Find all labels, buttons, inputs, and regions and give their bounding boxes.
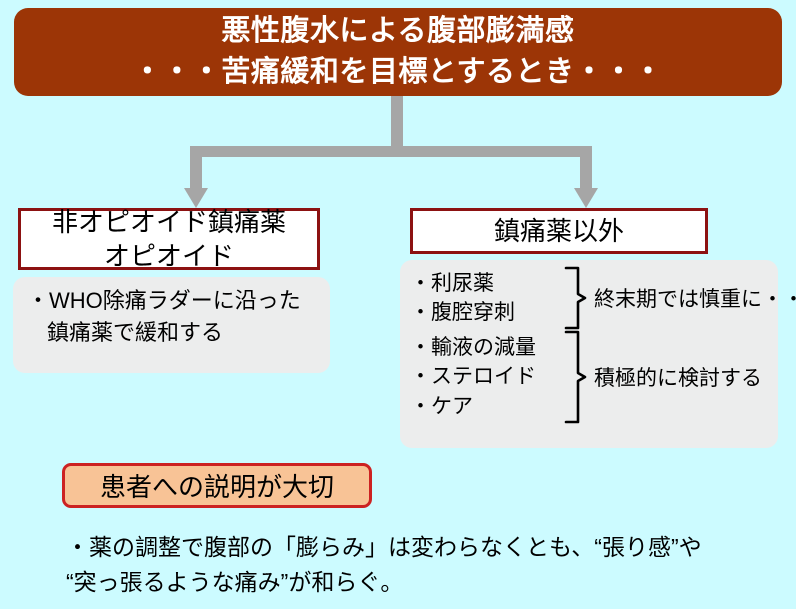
- header-line-1: 悪性腹水による腹部膨満感: [221, 11, 574, 52]
- branch-right-group-1: ・利尿薬 ・腹腔穿刺 終末期では慎重に・・・: [410, 266, 778, 330]
- branch-right-title-box: 鎮痛薬以外: [410, 208, 708, 254]
- branch-right-group-2-label: 積極的に検討する: [588, 362, 762, 392]
- branch-right-group-2: ・輸液の減量 ・ステロイド ・ケア 積極的に検討する: [410, 330, 778, 424]
- list-item: ・輸液の減量: [410, 333, 562, 362]
- highlight-callout-label: 患者への説明が大切: [100, 467, 334, 504]
- header-box: 悪性腹水による腹部膨満感 ・・・苦痛緩和を目標とするとき・・・: [14, 8, 782, 96]
- branch-left-title-box: 非オピオイド鎮痛薬 オピオイド: [18, 208, 320, 270]
- branch-right-detail-panel: ・利尿薬 ・腹腔穿刺 終末期では慎重に・・・ ・輸液の減量 ・ステロイド ・ケア…: [400, 260, 778, 448]
- diagram-canvas: 悪性腹水による腹部膨満感 ・・・苦痛緩和を目標とするとき・・・ 非オピオイド鎮痛…: [0, 0, 796, 609]
- footer-note-line-2: “突っ張るような痛み”が和らぐ。: [66, 565, 790, 600]
- arrow-down-icon-right: [574, 146, 598, 208]
- highlight-callout-box: 患者への説明が大切: [62, 463, 372, 508]
- header-line-2: ・・・苦痛緩和を目標とするとき・・・: [133, 52, 663, 93]
- branch-left-title-line-2: オピオイド: [104, 239, 234, 273]
- branch-left-detail-line-2: 鎮痛薬で緩和する: [27, 317, 330, 349]
- curly-brace-icon: [562, 330, 588, 424]
- list-item: ・利尿薬: [410, 269, 562, 298]
- branch-right-group-2-items: ・輸液の減量 ・ステロイド ・ケア: [410, 333, 562, 421]
- footer-note: ・薬の調整で腹部の「膨らみ」は変わらなくとも、“張り感”や “突っ張るような痛み…: [66, 530, 790, 599]
- arrow-down-icon-left: [184, 146, 208, 208]
- branch-right-title: 鎮痛薬以外: [494, 214, 624, 248]
- branch-left-title-line-1: 非オピオイド鎮痛薬: [52, 205, 286, 239]
- branch-left-detail-line-1: ・WHO除痛ラダーに沿った: [27, 285, 330, 317]
- connector-bar: [190, 146, 592, 157]
- connector-stem: [391, 96, 403, 152]
- list-item: ・ステロイド: [410, 362, 562, 391]
- branch-left-detail-panel: ・WHO除痛ラダーに沿った 鎮痛薬で緩和する: [13, 277, 330, 373]
- branch-right-group-1-label: 終末期では慎重に・・・: [588, 283, 796, 313]
- list-item: ・腹腔穿刺: [410, 298, 562, 327]
- curly-brace-icon: [562, 266, 588, 330]
- list-item: ・ケア: [410, 392, 562, 421]
- branch-right-group-1-items: ・利尿薬 ・腹腔穿刺: [410, 269, 562, 328]
- footer-note-line-1: ・薬の調整で腹部の「膨らみ」は変わらなくとも、“張り感”や: [66, 530, 790, 565]
